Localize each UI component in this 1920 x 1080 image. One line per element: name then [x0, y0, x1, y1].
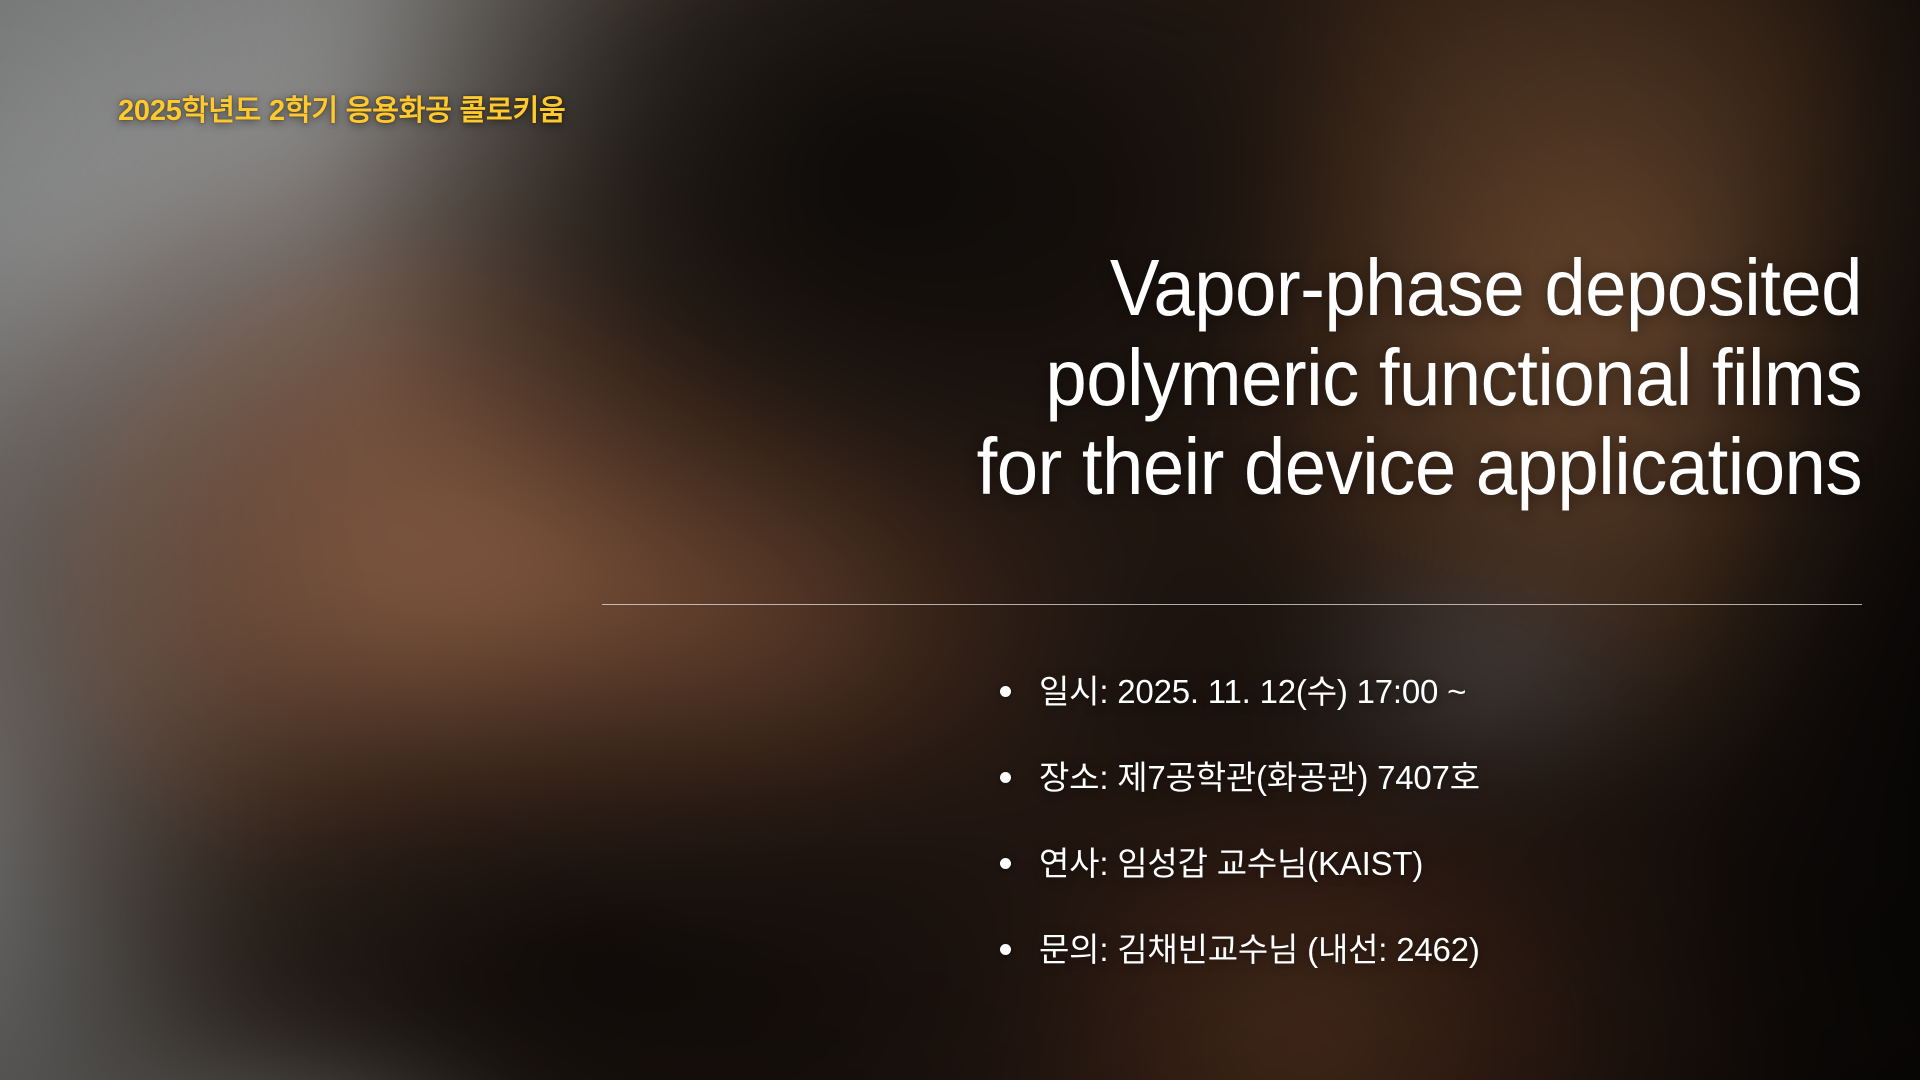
- detail-text-location: 장소: 제7공학관(화공관) 7407호: [1039, 761, 1480, 794]
- title-line-2: polymeric functional films: [707, 333, 1862, 423]
- list-item-contact: 문의: 김채빈교수님 (내선: 2462): [1000, 906, 1862, 992]
- poster-content: 2025학년도 2학기 응용화공 콜로키움 Vapor-phase deposi…: [0, 0, 1920, 1080]
- detail-text-datetime: 일시: 2025. 11. 12(수) 17:00 ~: [1039, 675, 1466, 708]
- title-divider-rule: [602, 604, 1862, 605]
- bullet-dot-icon: [1000, 858, 1011, 869]
- bullet-dot-icon: [1000, 944, 1011, 955]
- bullet-dot-icon: [1000, 686, 1011, 697]
- bullet-dot-icon: [1000, 772, 1011, 783]
- series-kicker-label: 2025학년도 2학기 응용화공 콜로키움: [118, 87, 565, 129]
- list-item-datetime: 일시: 2025. 11. 12(수) 17:00 ~: [1000, 648, 1862, 734]
- title-line-3: for their device applications: [707, 422, 1862, 512]
- title-line-1: Vapor-phase deposited: [707, 243, 1862, 333]
- event-details-list: 일시: 2025. 11. 12(수) 17:00 ~ 장소: 제7공학관(화공…: [1000, 648, 1862, 992]
- list-item-location: 장소: 제7공학관(화공관) 7407호: [1000, 734, 1862, 820]
- list-item-speaker: 연사: 임성갑 교수님(KAIST): [1000, 820, 1862, 906]
- page-title: Vapor-phase deposited polymeric function…: [620, 243, 1862, 512]
- detail-text-speaker: 연사: 임성갑 교수님(KAIST): [1039, 847, 1423, 880]
- detail-text-contact: 문의: 김채빈교수님 (내선: 2462): [1039, 933, 1480, 966]
- colloquium-poster: 2025학년도 2학기 응용화공 콜로키움 Vapor-phase deposi…: [0, 0, 1920, 1080]
